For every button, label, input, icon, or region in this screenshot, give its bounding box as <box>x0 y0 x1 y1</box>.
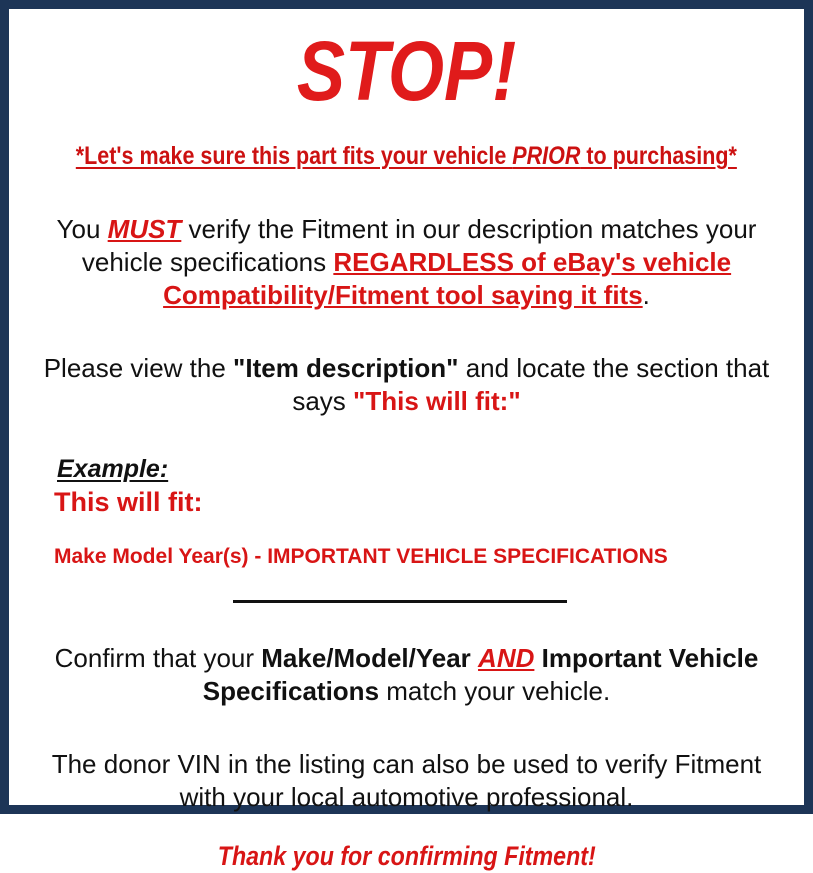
item-description-emphasis: "Item description" <box>233 353 458 383</box>
notice-content: STOP! *Let's make sure this part fits yo… <box>9 9 804 805</box>
tagline-part2: to purchasing* <box>581 142 737 170</box>
make-model-year-emphasis: Make/Model/Year <box>261 643 471 673</box>
confirm-seg2: match your vehicle. <box>379 676 610 706</box>
must-seg1: You <box>57 214 108 244</box>
confirm-seg1: Confirm that your <box>55 643 262 673</box>
example-label: Example: <box>57 454 168 484</box>
confirm-space1 <box>471 643 478 673</box>
fitment-notice-card: STOP! *Let's make sure this part fits yo… <box>0 0 813 814</box>
view-seg1: Please view the <box>44 353 233 383</box>
thanks-message-text: Thank you for confirming Fitment! <box>218 840 596 872</box>
must-emphasis: MUST <box>108 214 182 244</box>
example-block: Example: This will fit: Make Model Year(… <box>19 454 794 570</box>
stop-heading: STOP! <box>19 29 794 113</box>
must-paragraph: You MUST verify the Fitment in our descr… <box>19 213 794 312</box>
tagline: *Let's make sure this part fits your veh… <box>19 143 794 171</box>
vin-paragraph: The donor VIN in the listing can also be… <box>19 748 794 814</box>
must-seg3: . <box>643 280 650 310</box>
confirm-paragraph: Confirm that your Make/Model/Year AND Im… <box>19 642 794 708</box>
thanks-message: Thank you for confirming Fitment! <box>19 840 794 872</box>
this-will-fit-emphasis: "This will fit:" <box>353 386 521 416</box>
example-label-row: Example: <box>57 454 794 484</box>
example-spec-line: Make Model Year(s) - IMPORTANT VEHICLE S… <box>54 544 794 569</box>
confirm-space2 <box>534 643 541 673</box>
divider-wrap <box>19 596 794 608</box>
stop-heading-text: STOP! <box>297 29 516 113</box>
tagline-emphasis: PRIOR <box>512 142 580 170</box>
horizontal-divider <box>233 600 567 603</box>
example-fit-heading: This will fit: <box>54 486 794 518</box>
and-emphasis: AND <box>478 643 534 673</box>
view-paragraph: Please view the "Item description" and l… <box>19 352 794 418</box>
tagline-part1: *Let's make sure this part fits your veh… <box>76 142 512 170</box>
